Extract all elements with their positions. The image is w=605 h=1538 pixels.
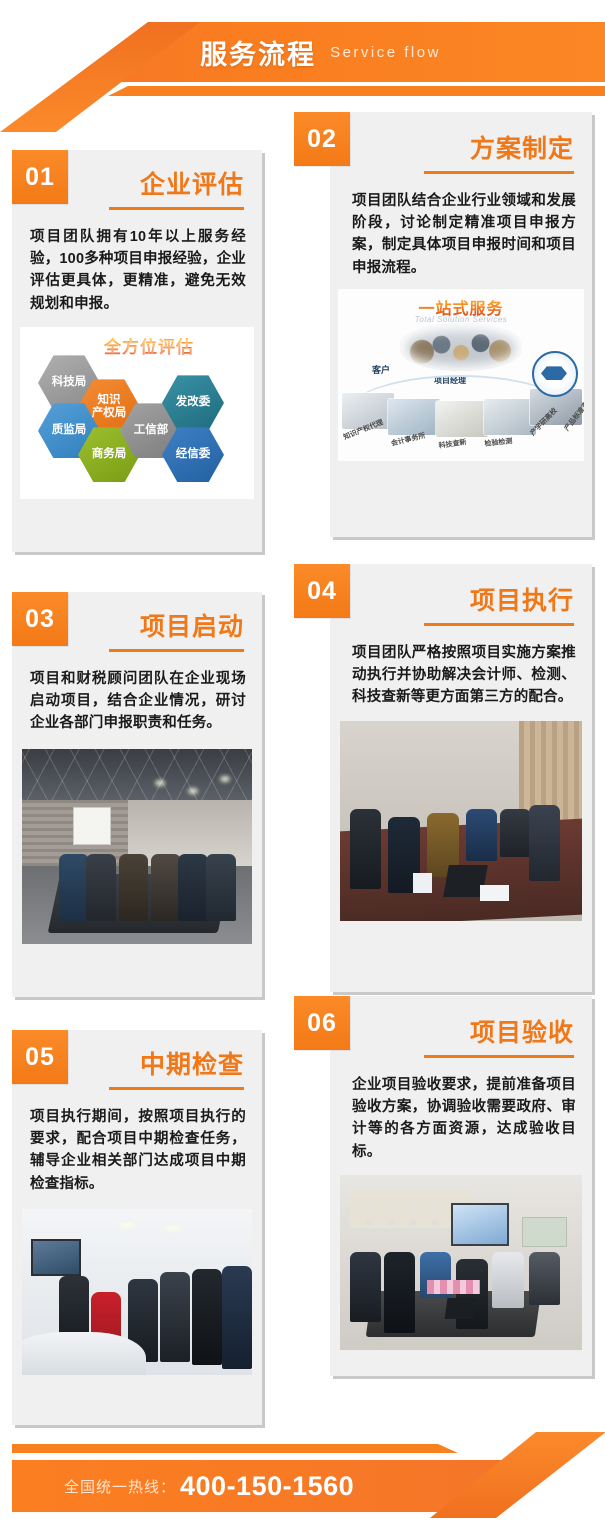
hex-diagram-title: 全方位评估 [104, 333, 194, 358]
onestop-caption-3: 检验检测 [484, 436, 513, 449]
process-card-04: 项目执行 项目团队严格按照项目实施方案推动执行并协助解决会计师、检测、科技查新等… [330, 564, 592, 992]
process-card-05: 中期检查 项目执行期间，按照项目执行的要求，配合项目中期检查任务，辅导企业相关部… [12, 1030, 262, 1425]
photo-acceptance-meeting [340, 1175, 582, 1350]
footer-accent-stripe [12, 1444, 592, 1453]
hex-label-2: 质监局 [52, 424, 87, 437]
process-card-03: 项目启动 项目和财税顾问团队在企业现场启动项目，结合企业情况，研讨企业各部门申报… [12, 592, 262, 997]
hex-label-3: 商务局 [92, 448, 127, 461]
hex-label-6: 经信委 [176, 448, 211, 461]
card-number-badge-01: 01 [12, 150, 68, 204]
cards-row-3: 中期检查 项目执行期间，按照项目执行的要求，配合项目中期检查任务，辅导企业相关部… [0, 996, 605, 1426]
hex-diagram: 全方位评估 科技局 知识 产权局 质监局 商务局 工信部 发改委 经信委 [20, 327, 254, 499]
page-header: 服务流程 Service flow [0, 0, 605, 120]
card-title-06: 项目验收 [330, 1020, 592, 1048]
card-number-badge-04: 04 [294, 564, 350, 618]
onestop-label-customer: 客户 [372, 363, 390, 376]
card-photo-04 [340, 721, 582, 921]
photo-meeting-room [22, 749, 252, 944]
card-title-04: 项目执行 [330, 588, 592, 616]
card-body-02: 项目团队结合企业行业领域和发展阶段，讨论制定精准项目申报方案，制定具体项目申报时… [330, 174, 592, 290]
onestop-node-2 [436, 401, 488, 437]
card-title-02: 方案制定 [330, 136, 592, 164]
onestop-caption-2: 科技查新 [438, 437, 467, 451]
card-photo-05 [22, 1209, 252, 1375]
hex-label-1: 知识 产权局 [92, 394, 127, 420]
page-footer: 全国统一热线： 400-150-1560 [0, 1428, 605, 1538]
photo-showroom-visit [22, 1209, 252, 1375]
card-body-01: 项目团队拥有10年以上服务经验，100多种项目申报经验，企业评估更具体，更精准，… [12, 210, 262, 328]
hex-label-4: 工信部 [134, 424, 169, 437]
card-number-badge-05: 05 [12, 1030, 68, 1084]
card-body-03: 项目和财税顾问团队在企业现场启动项目，结合企业情况，研讨企业各部门申报职责和任务… [12, 652, 262, 747]
footer-hotline-group: 全国统一热线： 400-150-1560 [12, 1460, 462, 1512]
header-title-group: 服务流程 Service flow [0, 22, 605, 82]
card-body-06: 企业项目验收要求，提前准备项目验收方案，协调验收需要政府、审计等的各方面资源，达… [330, 1058, 592, 1174]
hotline-number[interactable]: 400-150-1560 [180, 1471, 354, 1502]
onestop-node-1 [388, 399, 440, 435]
process-card-01: 企业评估 项目团队拥有10年以上服务经验，100多种项目申报经验，企业评估更具体… [12, 150, 262, 552]
card-body-05: 项目执行期间，按照项目执行的要求，配合项目中期检查任务，辅导企业相关部门达成项目… [12, 1090, 262, 1208]
card-photo-03 [22, 749, 252, 944]
card-number-badge-02: 02 [294, 112, 350, 166]
hotline-label: 全国统一热线： [64, 1476, 176, 1497]
hex-label-0: 科技局 [52, 376, 87, 389]
photo-working-session [340, 721, 582, 921]
hex-label-5: 发改委 [176, 396, 211, 409]
cards-grid: 企业评估 项目团队拥有10年以上服务经验，100多种项目申报经验，企业评估更具体… [0, 104, 605, 1426]
cards-row-2: 项目启动 项目和财税顾问团队在企业现场启动项目，结合企业情况，研讨企业各部门申报… [0, 556, 605, 996]
card-number-badge-06: 06 [294, 996, 350, 1050]
card-number-badge-03: 03 [12, 592, 68, 646]
page-subtitle: Service flow [330, 44, 441, 61]
service-flow-page: 服务流程 Service flow 企业评估 项目团队拥有10年以上服务经验，1… [0, 0, 605, 1538]
process-card-06: 项目验收 企业项目验收要求，提前准备项目验收方案，协调验收需要政府、审计等的各方… [330, 996, 592, 1376]
onestop-diagram: 一站式服务 Total Solution Services 客户 项目经理 知识… [338, 289, 584, 461]
onestop-center-photo [400, 323, 522, 371]
process-card-02: 方案制定 项目团队结合企业行业领域和发展阶段，讨论制定精准项目申报方案，制定具体… [330, 112, 592, 537]
card-photo-06 [340, 1175, 582, 1350]
card-body-04: 项目团队严格按照项目实施方案推动执行并协助解决会计师、检测、科技查新等更方面第三… [330, 626, 592, 719]
cards-row-1: 企业评估 项目团队拥有10年以上服务经验，100多种项目申报经验，企业评估更具体… [0, 104, 605, 556]
page-title: 服务流程 [200, 33, 316, 72]
